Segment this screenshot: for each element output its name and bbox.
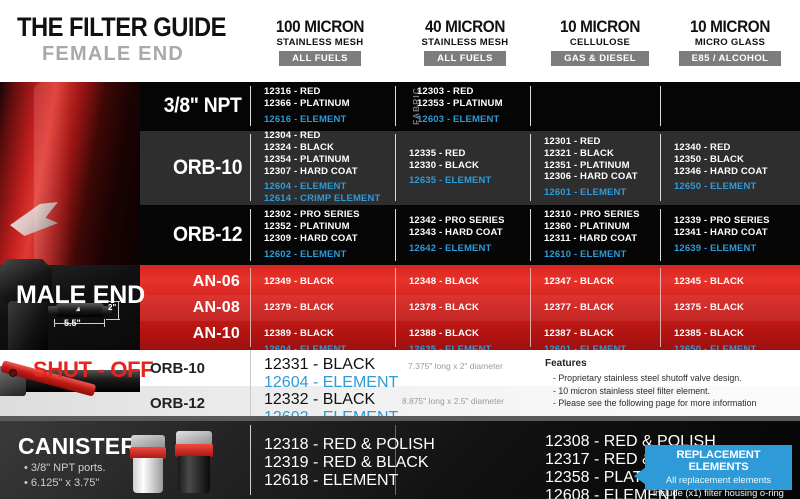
cell-orb12-100micron: 12302 - PRO SERIES 12352 - PLATINUM 1230… <box>250 205 395 265</box>
cell-an08-40micron: 12378 - BLACK <box>395 295 530 321</box>
feature-item: - Please see the following page for more… <box>545 397 756 410</box>
shutoff-section: SHUT - OFF ORB-10 12331 - BLACK 12604 - … <box>0 350 800 421</box>
page-title: THE FILTER GUIDE <box>17 12 226 43</box>
cell-orb10-40micron: 12335 - RED 12330 - BLACK 12635 - ELEMEN… <box>395 130 530 205</box>
fabric-tag: FABRIC <box>411 87 421 125</box>
cell-orb10-10micron-microglass: 12340 - RED 12350 - BLACK 12346 - HARD C… <box>660 130 800 205</box>
table-row-orb10: ▴ 5.5" 2" ORB-10 12304 - RED 12324 - BLA… <box>140 130 800 205</box>
replacement-heading: REPLACEMENT ELEMENTS <box>645 445 792 473</box>
page-header: THE FILTER GUIDE FEMALE END 100 MICRON S… <box>0 0 800 82</box>
canister-photo-black <box>172 431 216 493</box>
fuel-badge: ALL FUELS <box>424 51 506 66</box>
fuel-badge: E85 / ALCOHOL <box>679 51 782 66</box>
cell-npt-40micron: FABRIC 12303 - RED 12353 - PLATINUM 1260… <box>395 82 530 130</box>
cell-npt-100micron: 12316 - RED 12366 - PLATINUM 12616 - ELE… <box>250 82 395 130</box>
replacement-line-1: All replacement elements <box>645 473 792 486</box>
cell-an06-10micron-microglass: 12345 - BLACK <box>660 269 800 295</box>
cell-orb10-10micron-cellulose: 12301 - RED 12321 - BLACK 12351 - PLATIN… <box>530 130 660 205</box>
table-row-orb12: ▴ 7" 2.5" ORB-12 12302 - PRO SERIES 1235… <box>140 205 800 265</box>
cell-an08-100micron: 12379 - BLACK <box>250 295 395 321</box>
features-heading: Features <box>545 358 756 369</box>
female-end-subtitle: FEMALE END <box>42 43 184 66</box>
row-label-orb10: ORB-10 <box>140 130 250 205</box>
aeromotive-logo-icon <box>10 202 58 236</box>
dim-length: 5.5" <box>64 318 81 328</box>
cell-canister-100micron: 12318 - RED & POLISH 12319 - RED & BLACK… <box>264 436 435 490</box>
table-row-npt: ▴ 3.5" 1.25" 3/8" NPT 12316 - RED 12366 … <box>140 82 800 130</box>
table-row-an08: AN-08 12379 - BLACK 12378 - BLACK 12377 … <box>140 295 800 321</box>
cell-orb12-10micron-cellulose: 12310 - PRO SERIES 12360 - PLATINUM 1231… <box>530 205 660 265</box>
table-row-an06: AN-06 12349 - BLACK 12348 - BLACK 12347 … <box>140 269 800 295</box>
shutoff-label-orb10: ORB-10 <box>150 360 250 377</box>
column-header-10-micron-microglass: 10 MICRON MICRO GLASS E85 / ALCOHOL <box>660 18 800 66</box>
shutoff-divider <box>250 350 251 421</box>
cell-an08-10micron-microglass: 12375 - BLACK <box>660 295 800 321</box>
male-end-section: ▴ 5.5" 2" MALE END AN-06 12349 - BLACK 1… <box>0 265 800 350</box>
cell-npt-10micron-cellulose <box>530 82 660 130</box>
cell-an06-10micron-cellulose: 12347 - BLACK <box>530 269 660 295</box>
cell-npt-10micron-microglass <box>660 82 800 130</box>
fuel-badge: ALL FUELS <box>279 51 361 66</box>
fuel-badge: GAS & DIESEL <box>551 51 649 66</box>
row-cells-orb10: 12304 - RED 12324 - BLACK 12354 - PLATIN… <box>250 130 800 205</box>
replacement-line-2: include (x1) filter housing o-ring <box>645 486 792 499</box>
column-header-100-micron: 100 MICRON STAINLESS MESH ALL FUELS <box>250 18 390 66</box>
row-label-npt: 3/8" NPT <box>140 82 250 130</box>
shutoff-label-orb12: ORB-12 <box>150 395 250 412</box>
cell-an08-10micron-cellulose: 12377 - BLACK <box>530 295 660 321</box>
row-label-orb12: ORB-12 <box>140 205 250 265</box>
canister-bullet: • 3/8" NPT ports. <box>24 462 106 474</box>
filter-guide-page: THE FILTER GUIDE FEMALE END 100 MICRON S… <box>0 0 800 499</box>
cell-orb12-10micron-microglass: 12339 - PRO SERIES 12341 - HARD COAT 126… <box>660 205 800 265</box>
canister-section: CANISTER • 3/8" NPT ports. • 6.125" x 3.… <box>0 421 800 499</box>
cell-orb12-40micron: 12342 - PRO SERIES 12343 - HARD COAT 126… <box>395 205 530 265</box>
row-cells-npt: 12316 - RED 12366 - PLATINUM 12616 - ELE… <box>250 82 800 130</box>
cell-an06-40micron: 12348 - BLACK <box>395 269 530 295</box>
male-end-title: MALE END <box>16 281 145 310</box>
feature-item: - Proprietary stainless steel shutoff va… <box>545 372 756 385</box>
canister-divider-1 <box>250 425 251 495</box>
canister-title: CANISTER <box>18 433 137 460</box>
shutoff-title: SHUT - OFF <box>33 357 153 383</box>
shutoff-dim-orb10: 7.375" long x 2" diameter <box>408 361 503 371</box>
canister-photo-polish <box>128 435 168 493</box>
cell-orb10-100micron: 12304 - RED 12324 - BLACK 12354 - PLATIN… <box>250 130 395 205</box>
shutoff-cell-orb10: 12331 - BLACK 12604 - ELEMENT <box>264 356 398 392</box>
column-header-40-micron: 40 MICRON STAINLESS MESH ALL FUELS <box>395 18 535 66</box>
row-cells-orb12: 12302 - PRO SERIES 12352 - PLATINUM 1230… <box>250 205 800 265</box>
shutoff-dim-orb12: 8.875" long x 2.5" diameter <box>402 396 504 406</box>
replacement-elements-callout: REPLACEMENT ELEMENTS All replacement ele… <box>645 445 792 490</box>
canister-bullet: • 6.125" x 3.75" <box>24 477 99 489</box>
column-header-10-micron-cellulose: 10 MICRON CELLULOSE GAS & DIESEL <box>530 18 670 66</box>
red-fuel-cell-photo <box>0 82 140 265</box>
feature-item: - 10 micron stainless steel filter eleme… <box>545 385 756 398</box>
cell-an06-100micron: 12349 - BLACK <box>250 269 395 295</box>
shutoff-features: Features - Proprietary stainless steel s… <box>545 358 756 410</box>
